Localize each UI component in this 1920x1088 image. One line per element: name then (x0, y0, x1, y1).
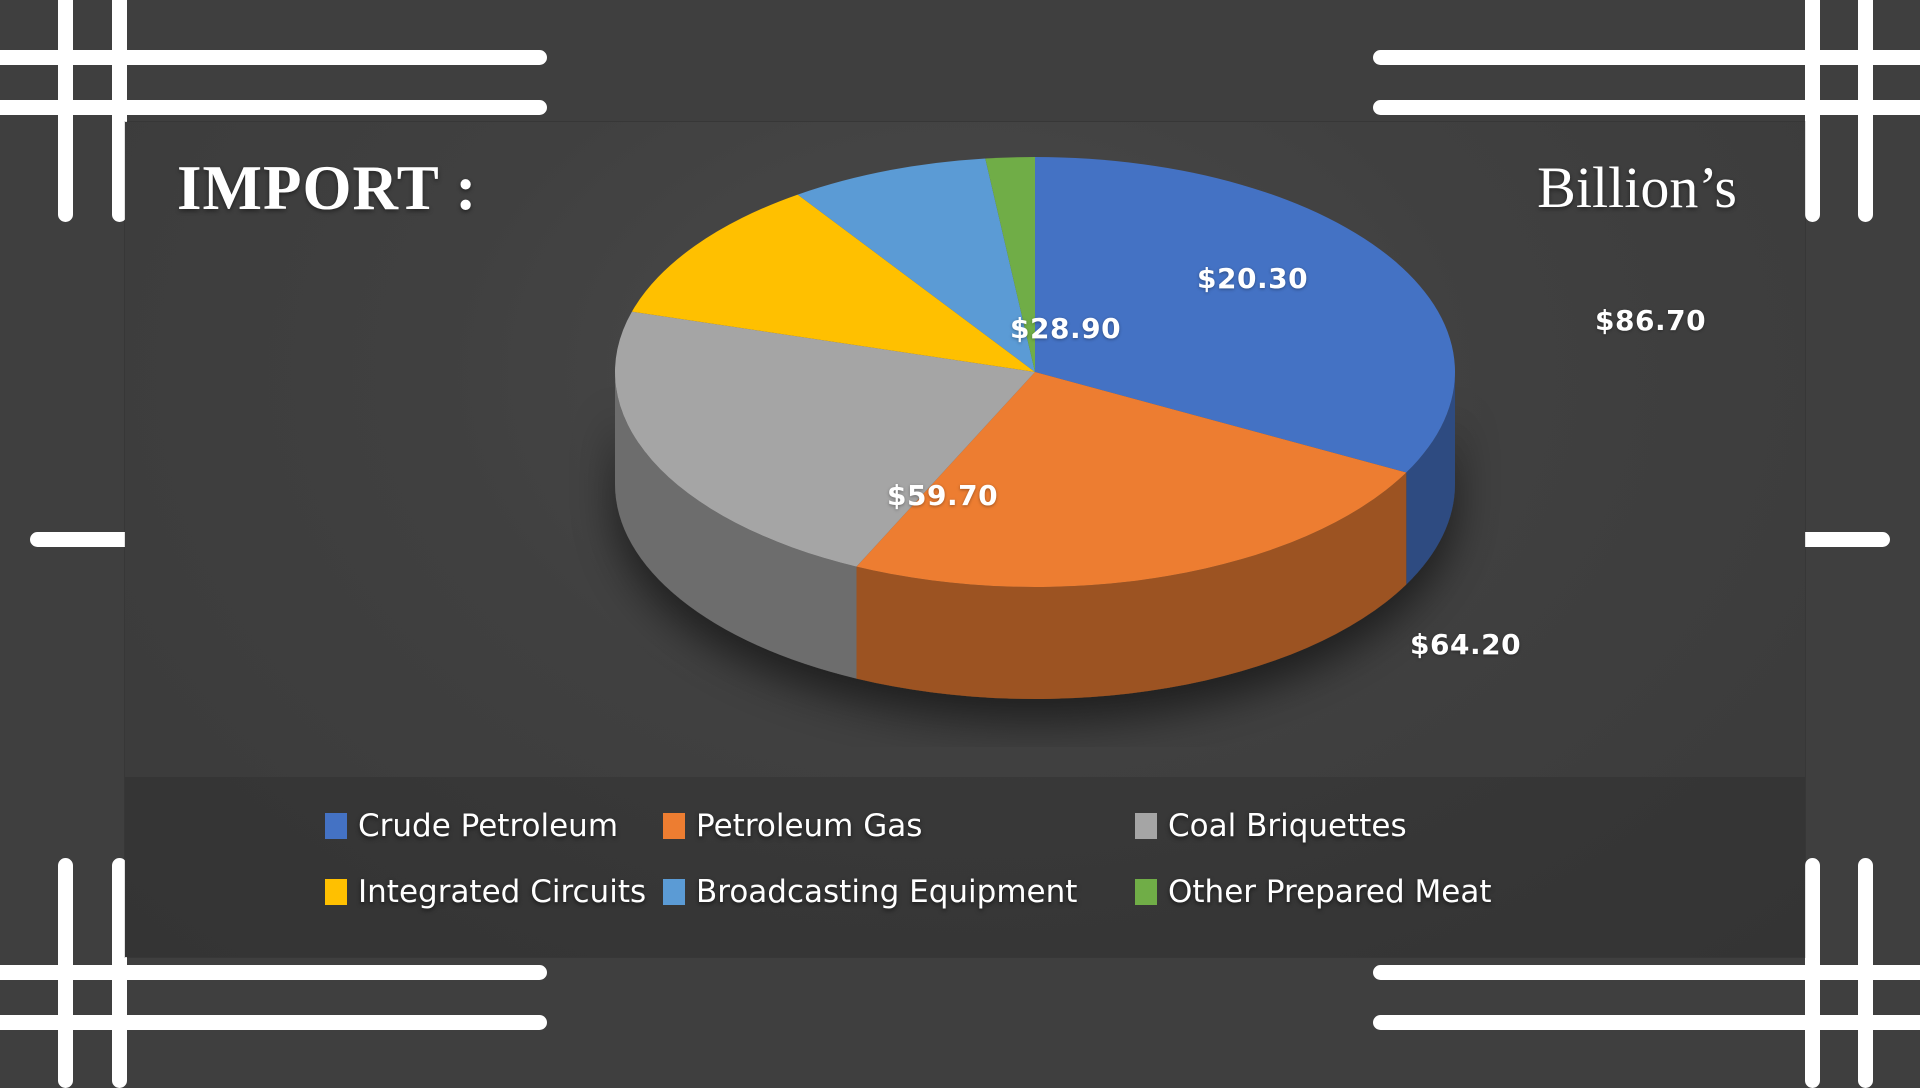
frame-line-br-h2 (1373, 1015, 1920, 1030)
legend-item[interactable]: Petroleum Gas (663, 808, 922, 844)
legend-row: Integrated CircuitsBroadcasting Equipmen… (125, 861, 1805, 923)
legend-swatch-icon (325, 879, 347, 905)
legend-swatch-icon (663, 879, 685, 905)
slide-panel: IMPORT : Billion’s $86.70$64.20$59.70$28… (125, 122, 1805, 957)
pie-top-faces (615, 157, 1455, 587)
pie-data-label: $20.30 (1197, 262, 1308, 295)
pie-graphic: $86.70$64.20$59.70$28.90$20.30 (525, 122, 1545, 747)
legend-swatch-icon (1135, 879, 1157, 905)
legend-item-label: Broadcasting Equipment (696, 874, 1077, 910)
legend-item-label: Coal Briquettes (1168, 808, 1407, 844)
pie-data-label: $28.90 (1010, 312, 1121, 345)
chart-legend[interactable]: Crude PetroleumPetroleum GasCoal Briquet… (125, 777, 1805, 957)
frame-line-bl-h1 (0, 965, 547, 980)
legend-item[interactable]: Other Prepared Meat (1135, 874, 1491, 910)
legend-item[interactable]: Broadcasting Equipment (663, 874, 1077, 910)
frame-line-bl-h2 (0, 1015, 547, 1030)
pie-data-label: $86.70 (1595, 304, 1706, 337)
frame-line-tr-h1 (1373, 50, 1920, 65)
page-title: IMPORT : (177, 152, 477, 225)
pie-chart[interactable]: IMPORT : Billion’s $86.70$64.20$59.70$28… (125, 122, 1805, 777)
legend-swatch-icon (663, 813, 685, 839)
legend-swatch-icon (1135, 813, 1157, 839)
legend-item-label: Petroleum Gas (696, 808, 922, 844)
frame-line-tr-h2 (1373, 100, 1920, 115)
legend-item-label: Crude Petroleum (358, 808, 618, 844)
frame-line-br-h1 (1373, 965, 1920, 980)
legend-item-label: Other Prepared Meat (1168, 874, 1491, 910)
pie-data-label: $64.20 (1410, 628, 1521, 661)
frame-line-tl-h1 (0, 50, 547, 65)
pie-svg (525, 122, 1545, 747)
frame-line-tl-h2 (0, 100, 547, 115)
unit-label: Billion’s (1537, 154, 1737, 221)
legend-swatch-icon (325, 813, 347, 839)
legend-item[interactable]: Integrated Circuits (325, 874, 646, 910)
legend-item[interactable]: Coal Briquettes (1135, 808, 1407, 844)
pie-data-label: $59.70 (887, 479, 998, 512)
legend-item-label: Integrated Circuits (358, 874, 646, 910)
legend-item[interactable]: Crude Petroleum (325, 808, 618, 844)
legend-row: Crude PetroleumPetroleum GasCoal Briquet… (125, 795, 1805, 857)
